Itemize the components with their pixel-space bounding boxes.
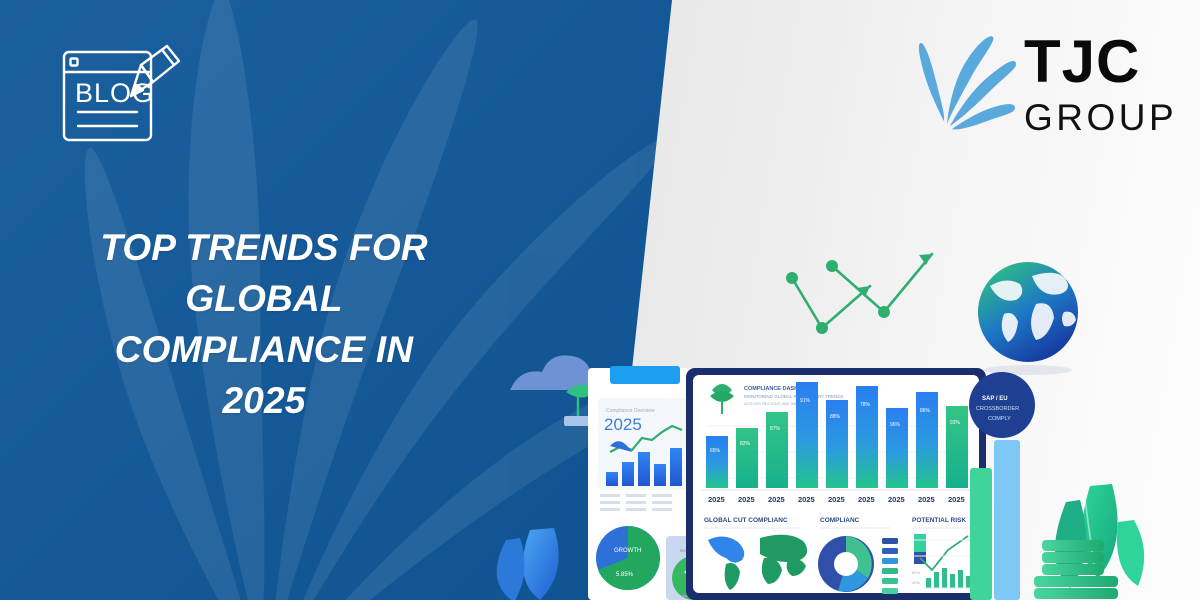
tjc-fan-logo-icon xyxy=(900,25,1018,143)
svg-text:82%: 82% xyxy=(740,441,751,447)
svg-text:2025: 2025 xyxy=(738,495,755,504)
svg-text:GLOBAL CUT COMPLIANC: GLOBAL CUT COMPLIANC xyxy=(704,517,788,524)
logo-name: TJC xyxy=(1024,32,1177,92)
svg-text:93%: 93% xyxy=(950,420,961,426)
world-globe-icon xyxy=(978,262,1078,375)
svg-text:87%: 87% xyxy=(770,426,781,432)
svg-text:2025: 2025 xyxy=(888,495,905,504)
svg-text:CROSSBORDER: CROSSBORDER xyxy=(976,406,1019,412)
headline-line-4: 2025 xyxy=(34,375,494,426)
svg-text:88%: 88% xyxy=(830,414,841,420)
svg-text:2025: 2025 xyxy=(708,495,725,504)
blog-banner: BLOG TOP TRENDS FOR GLOBAL COMPLIANCE IN… xyxy=(0,0,1200,600)
svg-text:65%: 65% xyxy=(710,448,721,454)
headline-line-1: TOP TRENDS FOR xyxy=(34,222,494,273)
headline-line-2: GLOBAL xyxy=(34,273,494,324)
logo-wordmark: TJC GROUP xyxy=(1024,32,1177,136)
logo-subtitle: GROUP xyxy=(1024,99,1177,136)
svg-text:2025: 2025 xyxy=(768,495,785,504)
svg-text:GROWTH: GROWTH xyxy=(614,548,641,554)
leaf-icon xyxy=(523,528,559,600)
svg-text:86%: 86% xyxy=(920,408,931,414)
leaf-icon xyxy=(497,538,525,600)
svg-text:2025: 2025 xyxy=(604,415,642,434)
tjc-group-logo: TJC GROUP xyxy=(900,22,1168,146)
svg-text:BLOG: BLOG xyxy=(75,78,154,108)
svg-text:40%: 40% xyxy=(912,580,920,585)
svg-text:2025: 2025 xyxy=(918,495,935,504)
svg-text:78%: 78% xyxy=(860,402,871,408)
blog-icon: BLOG xyxy=(57,40,187,155)
page-title: TOP TRENDS FOR GLOBAL COMPLIANCE IN 2025 xyxy=(34,222,494,426)
svg-text:COMPLIANC: COMPLIANC xyxy=(820,517,860,524)
status-badge: SAP / EU CROSSBORDER COMPLY xyxy=(969,372,1035,438)
svg-text:SAP / EU: SAP / EU xyxy=(982,396,1008,402)
dashboard-card: COMPLIANCE DASHBOARD MONITORING GLOBAL R… xyxy=(686,368,986,600)
svg-text:POTENTIAL RISK: POTENTIAL RISK xyxy=(912,517,966,524)
svg-text:5.85%: 5.85% xyxy=(616,572,634,578)
svg-text:80%: 80% xyxy=(912,570,920,575)
svg-text:MONITORING GLOBAL REGULATORY T: MONITORING GLOBAL REGULATORY TRENDS xyxy=(744,394,844,399)
donut-chart xyxy=(818,536,874,592)
dashboard-illustration: Compliance Overview 2025 xyxy=(470,240,1200,600)
svg-text:2025: 2025 xyxy=(858,495,875,504)
svg-text:COMPLY: COMPLY xyxy=(988,416,1011,422)
svg-text:Compliance Overview: Compliance Overview xyxy=(606,408,655,414)
svg-text:96%: 96% xyxy=(890,422,901,428)
svg-text:91%: 91% xyxy=(800,398,811,404)
svg-text:2025: 2025 xyxy=(948,495,965,504)
svg-text:2025: 2025 xyxy=(798,495,815,504)
headline-line-3: COMPLIANCE IN xyxy=(34,324,494,375)
svg-text:2025: 2025 xyxy=(828,495,845,504)
